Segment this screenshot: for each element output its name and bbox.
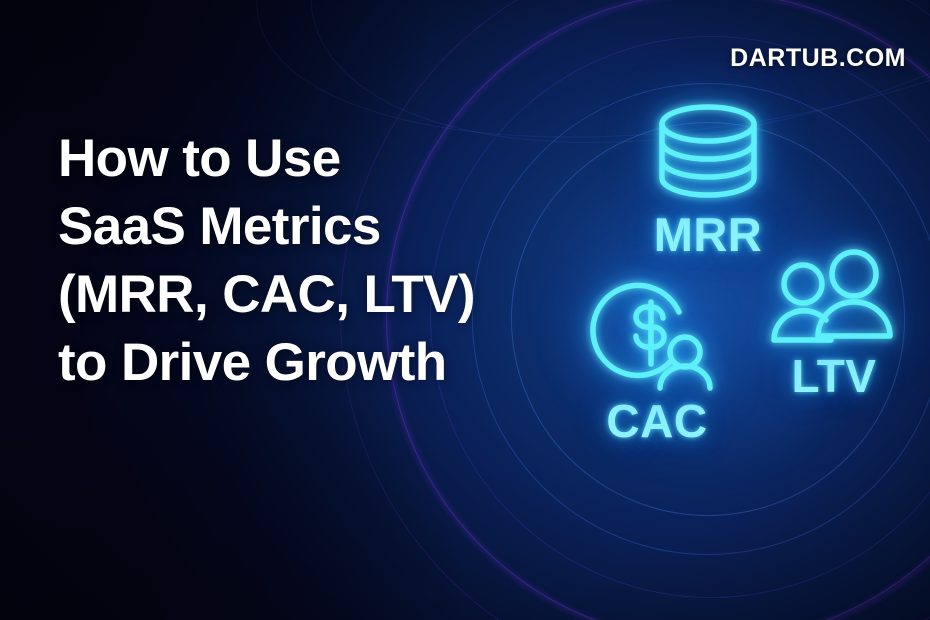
database-cylinder-icon: [652, 100, 764, 204]
brand-watermark: DARTUB.COM: [730, 44, 906, 73]
metric-label-ltv: LTV: [748, 353, 920, 399]
page-title-line-2: SaaS Metrics: [58, 193, 528, 261]
dollar-circle-person-icon: [587, 282, 727, 394]
metric-badge-cac: CAC: [562, 282, 752, 444]
two-users-icon: [769, 248, 899, 350]
page-title: How to Use SaaS Metrics (MRR, CAC, LTV) …: [58, 125, 528, 397]
metric-badge-ltv: LTV: [748, 248, 920, 399]
page-title-line-3: (MRR, CAC, LTV): [58, 261, 528, 329]
page-title-line-4: to Drive Growth: [58, 329, 528, 397]
metric-label-cac: CAC: [562, 398, 752, 444]
page-title-line-1: How to Use: [58, 125, 528, 193]
banner-canvas: DARTUB.COM How to Use SaaS Metrics (MRR,…: [0, 0, 930, 620]
metric-badge-mrr: MRR: [608, 100, 808, 258]
